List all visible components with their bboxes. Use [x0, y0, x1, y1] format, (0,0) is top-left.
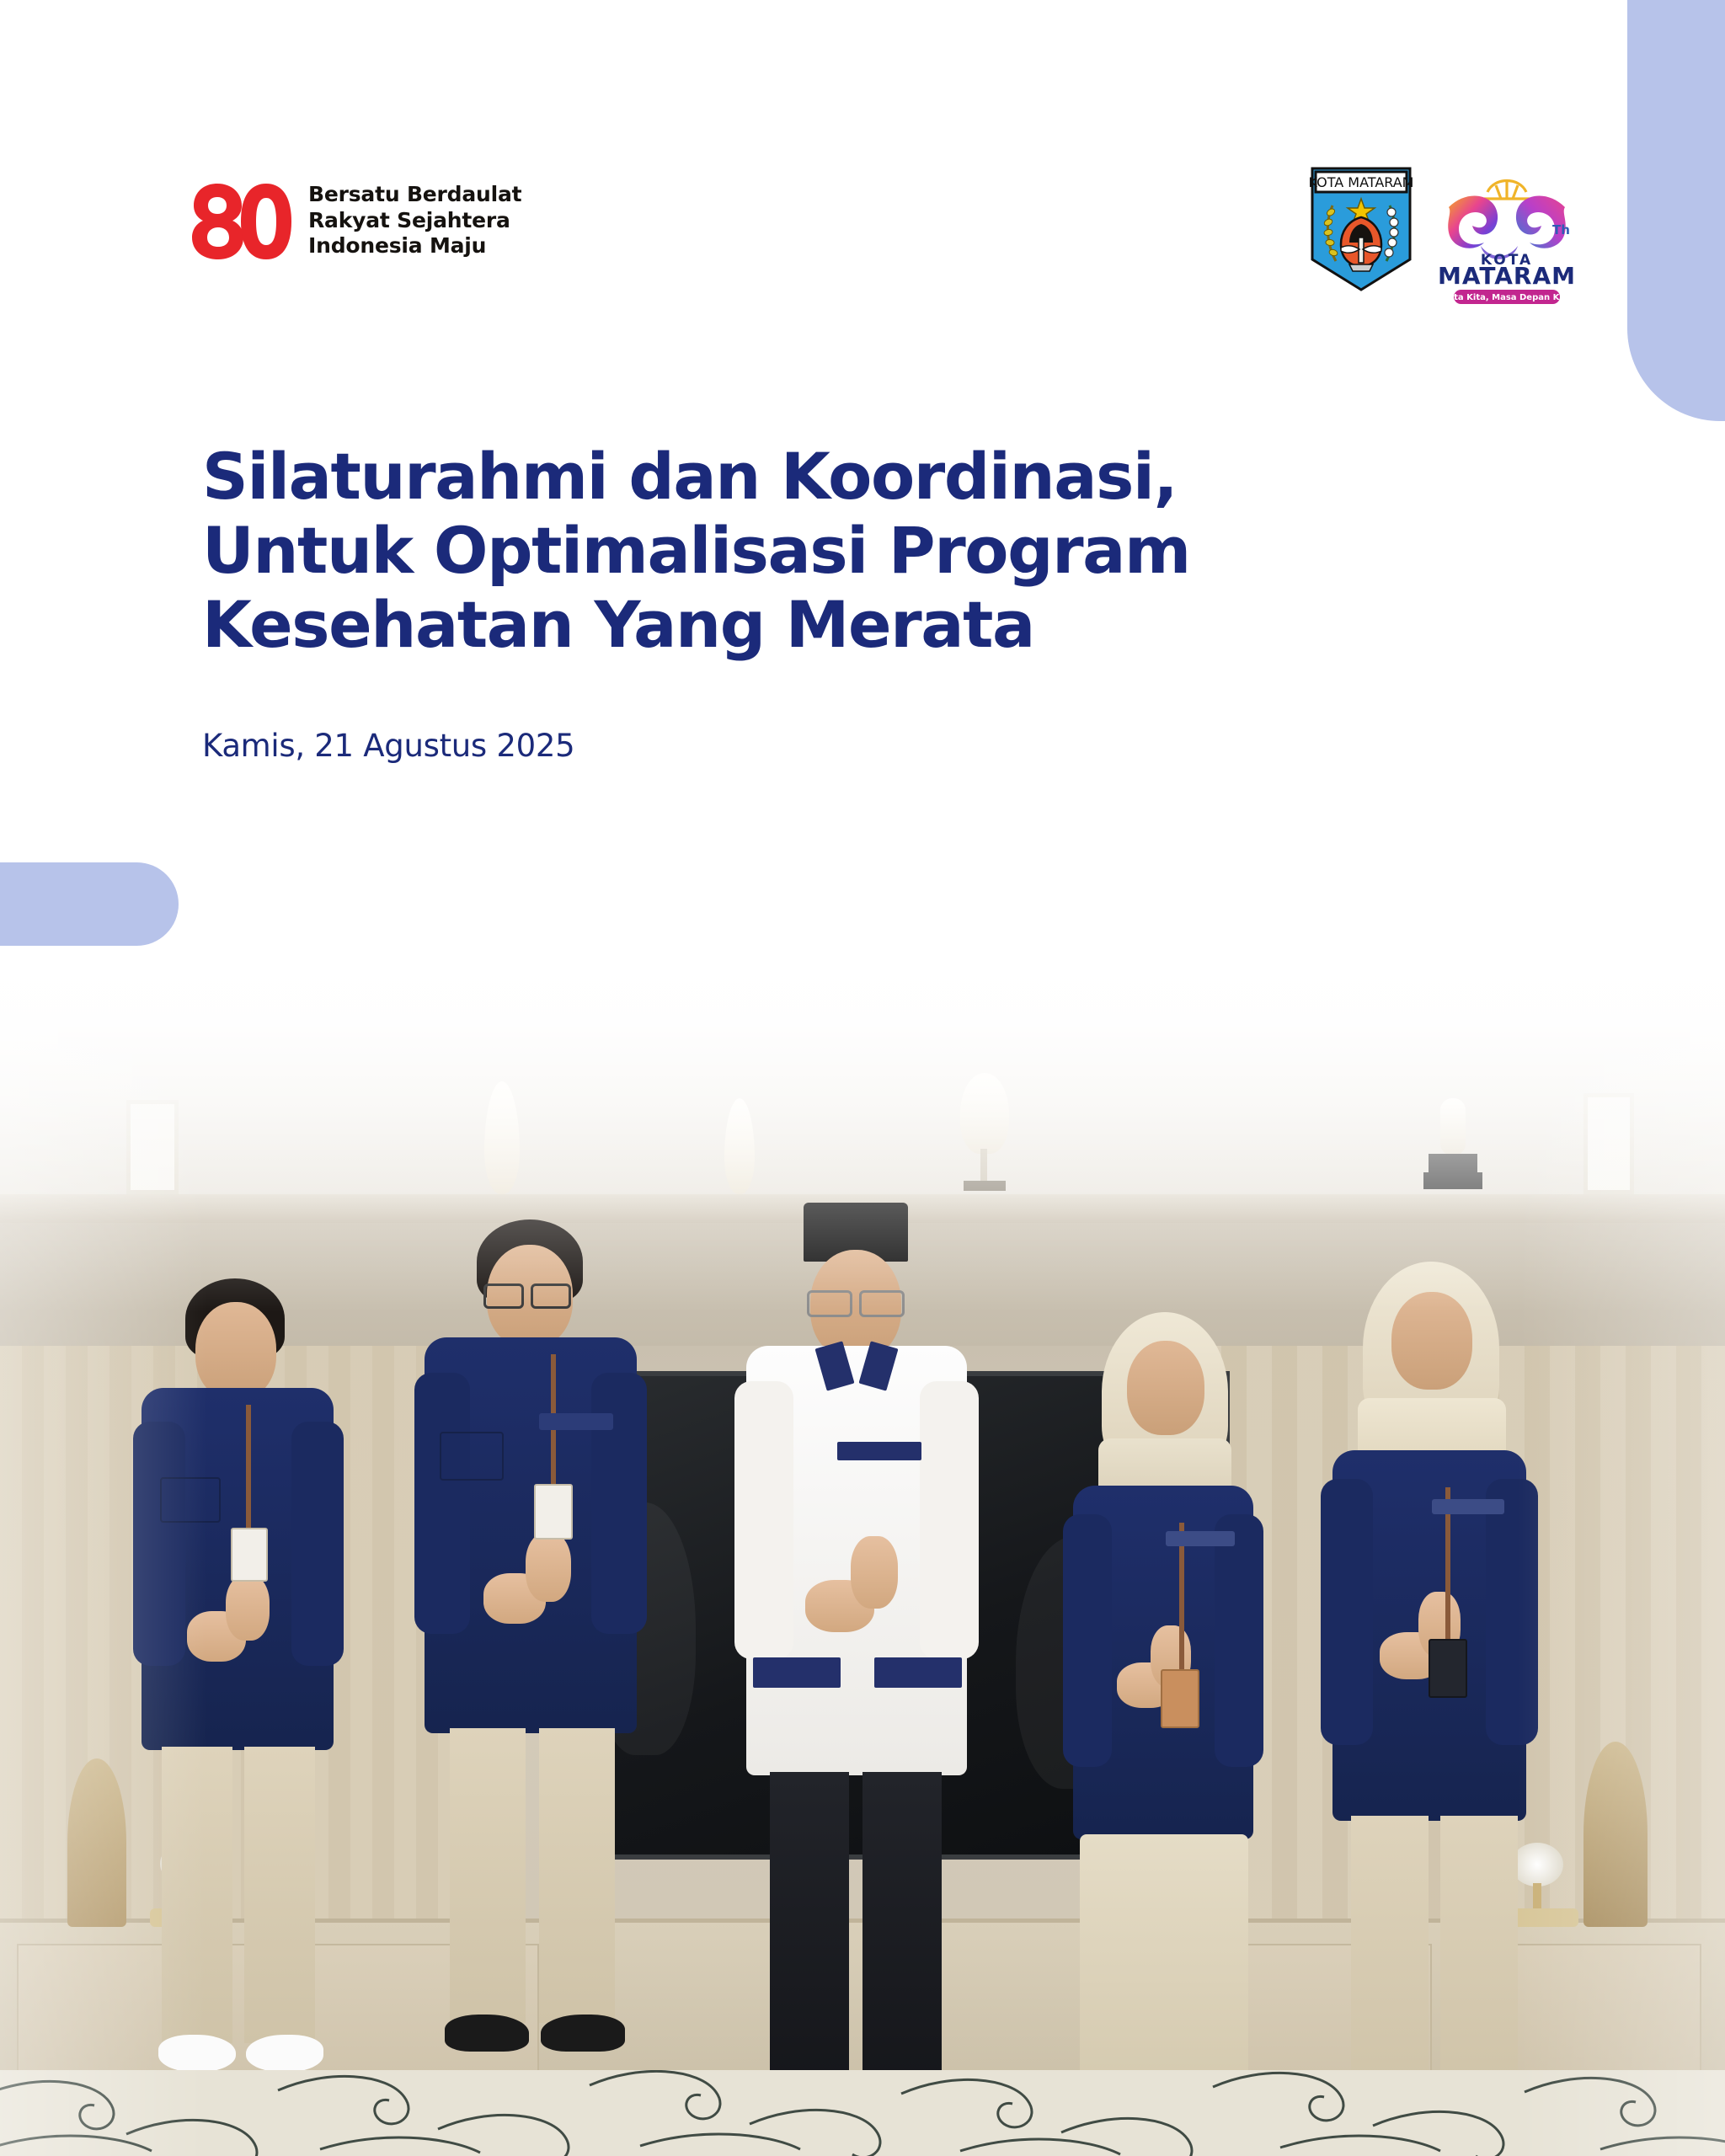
- photo-scene: [0, 950, 1725, 2156]
- person-5: [1314, 1262, 1567, 2129]
- logo-80-indonesia: Bersatu Berdaulat Rakyat Sejahtera Indon…: [192, 180, 521, 261]
- svg-text:KOTA MATARAM: KOTA MATARAM: [1309, 174, 1414, 190]
- event-date: Kamis, 21 Agustus 2025: [202, 728, 1381, 764]
- decor-wood-cone-left: [67, 1758, 126, 1927]
- decorative-shape-left-pill: [0, 862, 179, 946]
- header-logo-cluster: KOTA MATARAM: [1307, 165, 1578, 308]
- svg-text:MATARAM: MATARAM: [1438, 262, 1576, 290]
- person-4: [1053, 1312, 1297, 2137]
- eighty-numeral-icon: [192, 180, 291, 261]
- header: Bersatu Berdaulat Rakyat Sejahtera Indon…: [0, 0, 1725, 354]
- shelf-frame-1: [126, 1100, 179, 1194]
- svg-text:Kota Kita, Masa Depan Kita: Kota Kita, Masa Depan Kita: [1442, 293, 1573, 302]
- kota-mataram-shield-icon: KOTA MATARAM: [1307, 165, 1415, 293]
- person-2: [413, 1219, 682, 2121]
- page-title: Silaturahmi dan Koordinasi, Untuk Optima…: [202, 440, 1381, 662]
- svg-text:Th: Th: [1552, 222, 1570, 237]
- person-3: [733, 1203, 1019, 2129]
- decor-wood-cone-right: [1583, 1742, 1648, 1927]
- logo-80-tagline: Bersatu Berdaulat Rakyat Sejahtera Indon…: [308, 182, 521, 259]
- shelf-frame-2: [1583, 1093, 1634, 1194]
- shelf-trophy: [1423, 1098, 1482, 1196]
- person-1: [126, 1278, 379, 2121]
- shelf-sculpture: [945, 1073, 1023, 1194]
- event-photo: [0, 950, 1725, 2156]
- anniversary-32-logo: Th KOTA MATARAM Kota Kita, Masa Depan Ki…: [1435, 165, 1578, 308]
- title-block: Silaturahmi dan Koordinasi, Untuk Optima…: [202, 440, 1381, 764]
- carpet: [0, 2070, 1725, 2156]
